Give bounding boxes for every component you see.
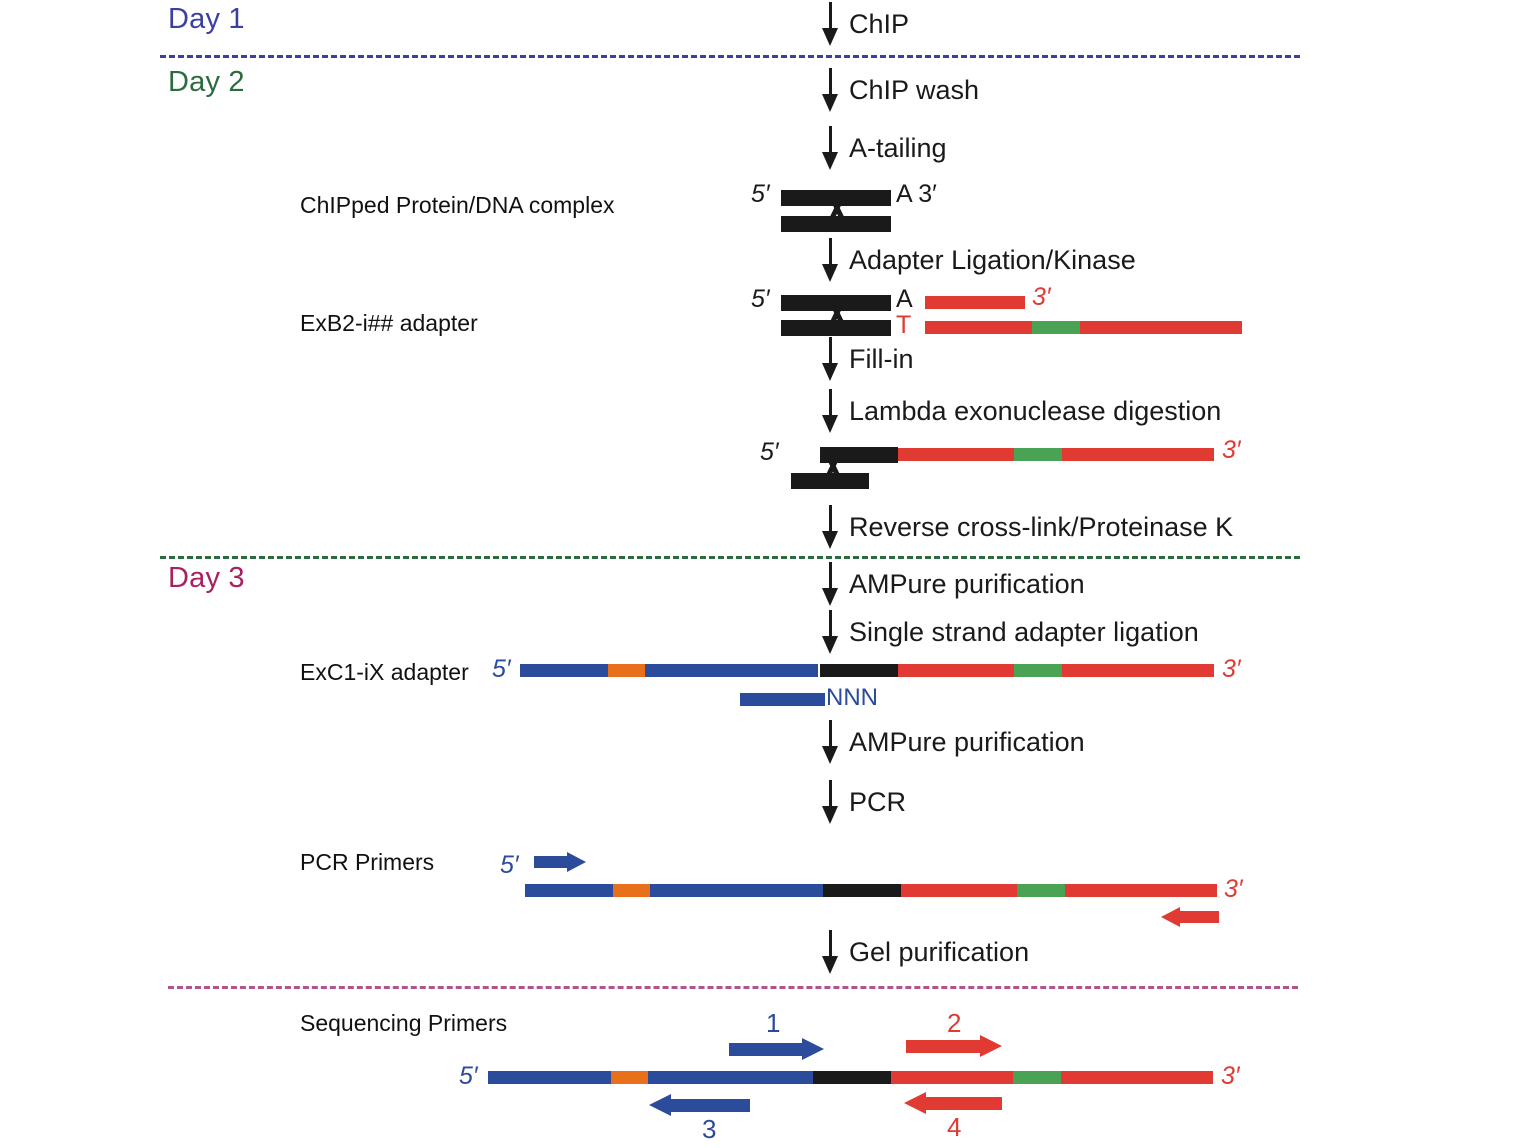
exc1-adapter-arm-left — [520, 664, 608, 677]
nnn-oligo-bar — [740, 693, 825, 706]
step-gel-purification-label: Gel purification — [849, 939, 1029, 966]
step-chip: ChIP — [820, 2, 909, 46]
day-label-day1: Day 1 — [168, 3, 245, 36]
step-adapter-ligation: Adapter Ligation/Kinase — [820, 238, 1136, 282]
crosslink-x-icon — [822, 191, 852, 225]
side-label-exc1-adapter: ExC1-iX adapter — [300, 659, 469, 686]
genomic-insert-segment — [820, 664, 898, 677]
step-chip-label: ChIP — [849, 11, 909, 38]
step-ampure-1: AMPure purification — [820, 562, 1085, 606]
seq-product-barcode — [1013, 1071, 1061, 1084]
step-lambda-exo-label: Lambda exonuclease digestion — [849, 398, 1221, 425]
exb2-arm-right — [1062, 664, 1214, 677]
down-arrow-icon — [820, 780, 840, 824]
exb2-barcode-segment — [1014, 664, 1062, 677]
down-arrow-icon — [820, 68, 840, 112]
down-arrow-icon — [820, 126, 840, 170]
nnn-label: NNN — [826, 684, 878, 712]
five-prime-label-pcr: 5′ — [500, 851, 519, 880]
down-arrow-icon — [820, 720, 840, 764]
down-arrow-icon — [820, 562, 840, 606]
seq-product-red-right — [1061, 1071, 1213, 1084]
seq-product-adapter-arm-left — [488, 1071, 611, 1084]
step-ampure-2-label: AMPure purification — [849, 729, 1085, 756]
pcr-product-index-segment — [613, 884, 650, 897]
exc1-index-segment — [608, 664, 645, 677]
step-ampure-2: AMPure purification — [820, 720, 1085, 764]
step-ss-ligation-label: Single strand adapter ligation — [849, 619, 1199, 646]
down-arrow-icon — [820, 337, 840, 381]
exo-product-barcode — [1014, 448, 1062, 461]
down-arrow-icon — [820, 930, 840, 974]
exo-product-red-left — [898, 448, 1014, 461]
exc1-adapter-arm-right — [645, 664, 818, 677]
pcr-product-adapter-arm-right — [650, 884, 823, 897]
three-prime-label-exo-product: 3′ — [1222, 436, 1241, 465]
step-chip-wash-label: ChIP wash — [849, 77, 979, 104]
step-lambda-exo: Lambda exonuclease digestion — [820, 389, 1221, 433]
step-adapter-ligation-label: Adapter Ligation/Kinase — [849, 247, 1136, 274]
sequencing-primer-number-4: 4 — [947, 1112, 961, 1143]
sequencing-primer-4-arrow — [904, 1092, 1002, 1114]
side-label-sequencing-primers: Sequencing Primers — [300, 1010, 507, 1037]
seq-product-index-segment — [611, 1071, 648, 1084]
down-arrow-icon — [820, 610, 840, 654]
seq-product-red-left — [891, 1071, 1013, 1084]
side-label-exb2-adapter: ExB2-i## adapter — [300, 310, 478, 337]
seq-product-adapter-arm-right — [648, 1071, 813, 1084]
pcr-product-red-left — [901, 884, 1017, 897]
day3-final-divider — [168, 986, 1298, 989]
step-gel-purification: Gel purification — [820, 930, 1029, 974]
down-arrow-icon — [820, 2, 840, 46]
step-reverse-crosslink-label: Reverse cross-link/Proteinase K — [849, 514, 1233, 541]
sequencing-primer-1-arrow — [729, 1038, 824, 1060]
three-prime-label-pcr: 3′ — [1224, 875, 1243, 904]
sequencing-primer-number-3: 3 — [702, 1114, 716, 1145]
step-a-tailing: A-tailing — [820, 126, 947, 170]
five-prime-label-exc1: 5′ — [492, 655, 511, 684]
exb2-arm-left — [898, 664, 1014, 677]
step-pcr-label: PCR — [849, 789, 906, 816]
pcr-product-genomic-insert — [823, 884, 901, 897]
step-pcr: PCR — [820, 780, 906, 824]
day-label-day3: Day 3 — [168, 562, 245, 595]
step-ss-ligation: Single strand adapter ligation — [820, 610, 1199, 654]
step-ampure-1-label: AMPure purification — [849, 571, 1085, 598]
five-prime-label-sequencing: 5′ — [459, 1062, 478, 1091]
step-fill-in: Fill-in — [820, 337, 914, 381]
exb2-barcode-segment — [1032, 321, 1080, 334]
exb2-adapter-top-strand — [925, 296, 1025, 309]
down-arrow-icon — [820, 505, 840, 549]
step-chip-wash: ChIP wash — [820, 68, 979, 112]
pcr-product-adapter-arm-left — [525, 884, 613, 897]
five-prime-label-complex: 5′ — [751, 180, 770, 209]
three-prime-label-exc1: 3′ — [1222, 655, 1241, 684]
day1-day2-divider — [160, 55, 1300, 58]
day2-day3-divider — [160, 556, 1300, 559]
pcr-forward-primer-arrow — [534, 852, 586, 872]
pcr-product-red-right — [1065, 884, 1217, 897]
down-arrow-icon — [820, 238, 840, 282]
day-label-day2: Day 2 — [168, 66, 245, 99]
side-label-chipped-complex: ChIPped Protein/DNA complex — [300, 192, 615, 219]
step-reverse-crosslink: Reverse cross-link/Proteinase K — [820, 505, 1233, 549]
seq-product-genomic-insert — [813, 1071, 891, 1084]
sequencing-primer-3-arrow — [649, 1094, 750, 1116]
three-prime-label-sequencing: 3′ — [1221, 1062, 1240, 1091]
exb2-adapter-bottom-strand-left — [925, 321, 1032, 334]
five-prime-label-exo-product: 5′ — [760, 438, 779, 467]
a-tail-label-complex: A 3′ — [896, 180, 937, 209]
nucleotide-a-label: A — [896, 285, 913, 314]
pcr-product-barcode — [1017, 884, 1065, 897]
figure-canvas: Day 1 ChIP Day 2 ChIP wash A-tailing ChI… — [0, 0, 1534, 1148]
exo-product-red-right — [1062, 448, 1214, 461]
five-prime-label-ligated: 5′ — [751, 285, 770, 314]
sequencing-primer-number-1: 1 — [766, 1008, 780, 1039]
step-fill-in-label: Fill-in — [849, 346, 914, 373]
nucleotide-t-label: T — [896, 311, 911, 340]
exb2-adapter-bottom-strand-right — [1080, 321, 1242, 334]
crosslink-x-icon — [818, 449, 848, 483]
step-a-tailing-label: A-tailing — [849, 135, 947, 162]
three-prime-label-ligated: 3′ — [1032, 283, 1051, 312]
pcr-reverse-primer-arrow — [1161, 907, 1219, 927]
side-label-pcr-primers: PCR Primers — [300, 849, 434, 876]
crosslink-x-icon — [822, 296, 852, 330]
sequencing-primer-2-arrow — [906, 1035, 1002, 1057]
down-arrow-icon — [820, 389, 840, 433]
